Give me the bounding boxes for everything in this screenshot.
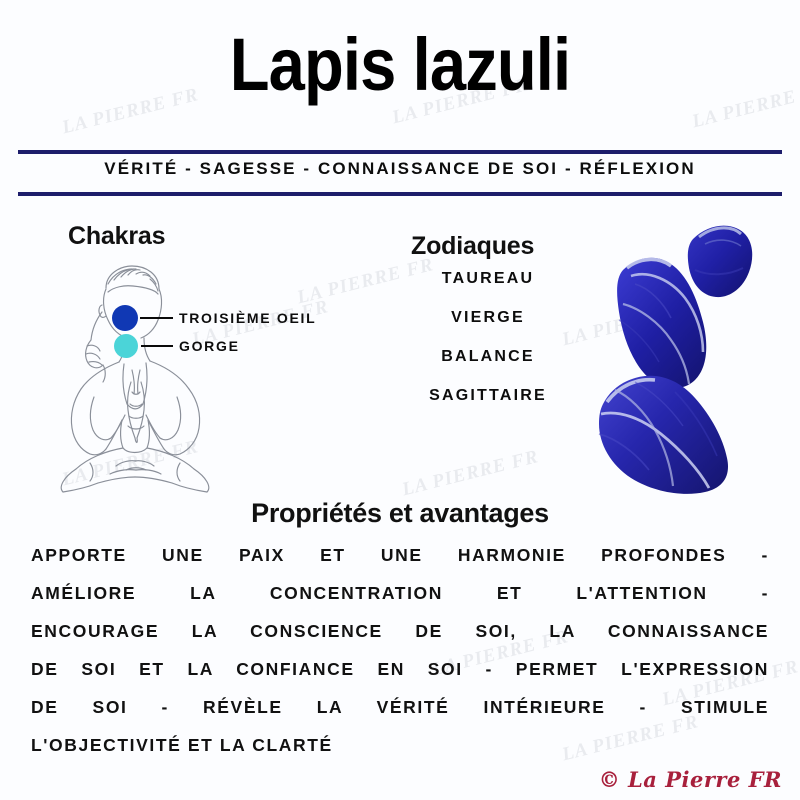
zodiac-item: TAUREAU [388, 270, 588, 288]
zodiac-item: BALANCE [388, 348, 588, 366]
chakra-label-throat: GORGE [179, 338, 240, 354]
chakras-heading: Chakras [68, 222, 165, 251]
chakra-dot-throat [114, 334, 138, 358]
watermark-text: LA PIERRE FR [400, 446, 541, 501]
properties-heading: Propriétés et avantages [0, 498, 800, 529]
keywords-text: VÉRITÉ - SAGESSE - CONNAISSANCE DE SOI -… [0, 152, 800, 186]
zodiac-item: VIERGE [388, 309, 588, 327]
infographic-page: LA PIERRE FR LA PIERRE FR LA PIERRE FR L… [0, 0, 800, 800]
zodiac-list: TAUREAU VIERGE BALANCE SAGITTAIRE [388, 270, 588, 426]
properties-line: DE SOI ET LA CONFIANCE EN SOI - PERMET L… [31, 650, 769, 688]
meditating-figure-illustration [28, 258, 258, 493]
chakra-dot-third-eye [112, 305, 138, 331]
properties-line: L'OBJECTIVITÉ ET LA CLARTÉ [31, 726, 769, 764]
properties-body: APPORTE UNE PAIX ET UNE HARMONIE PROFOND… [31, 536, 769, 764]
properties-line: AMÉLIORE LA CONCENTRATION ET L'ATTENTION… [31, 574, 769, 612]
zodiac-item: SAGITTAIRE [388, 387, 588, 405]
chakra-leader-line-third-eye [140, 317, 173, 319]
chakra-leader-line-throat [141, 345, 173, 347]
properties-line: ENCOURAGE LA CONSCIENCE DE SOI, LA CONNA… [31, 612, 769, 650]
copyright-signature: © La Pierre FR [599, 767, 782, 792]
chakra-label-third-eye: TROISIÈME OEIL [179, 310, 316, 326]
properties-line: APPORTE UNE PAIX ET UNE HARMONIE PROFOND… [31, 536, 769, 574]
properties-line: DE SOI - RÉVÈLE LA VÉRITÉ INTÉRIEURE - S… [31, 688, 769, 726]
lapis-lazuli-stones-image [575, 212, 800, 502]
page-title: Lapis lazuli [48, 26, 752, 104]
zodiaques-heading: Zodiaques [411, 232, 534, 261]
